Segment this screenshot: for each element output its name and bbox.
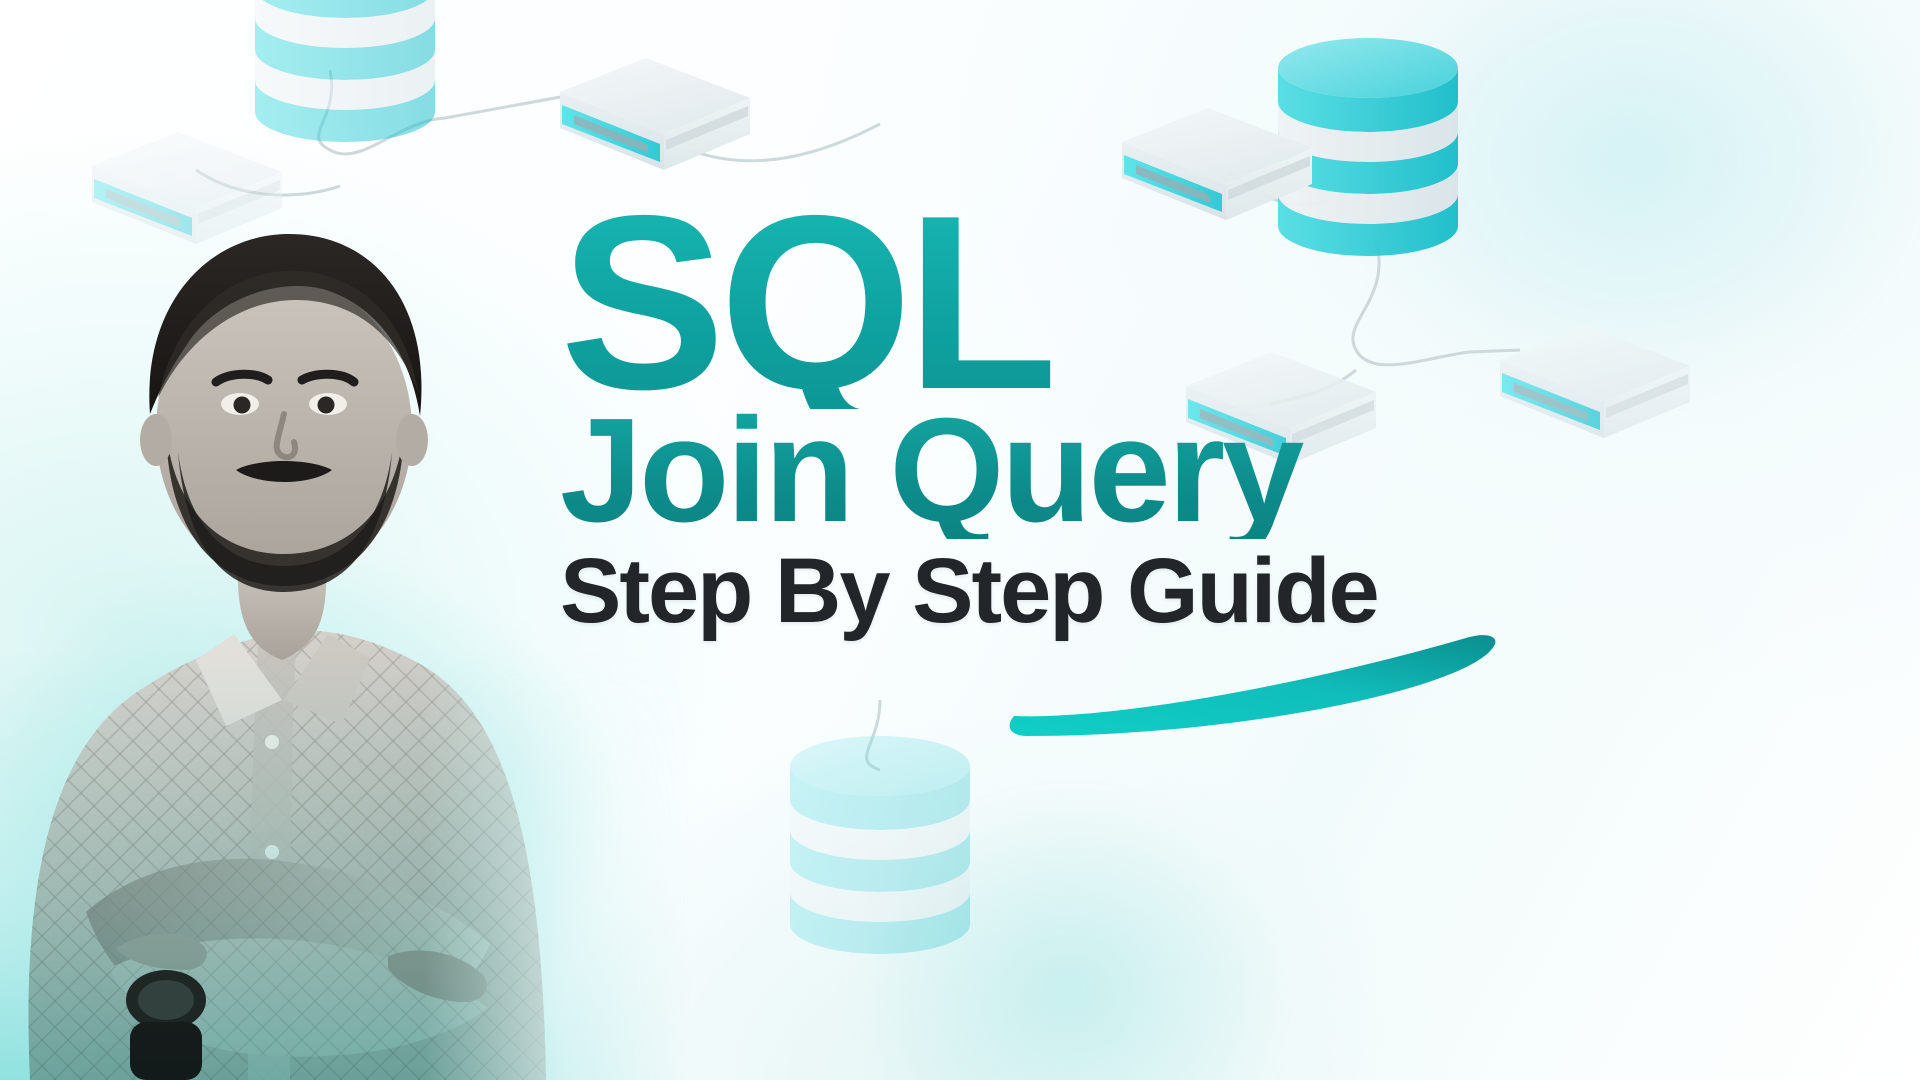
banner-canvas: SQL Join Query Step By Step Guide — [0, 0, 1920, 1080]
underline-swoosh — [1000, 632, 1520, 742]
page-title-secondary: Join Query — [560, 403, 1620, 539]
page-title-primary: SQL — [560, 196, 1620, 409]
headline-block: SQL Join Query Step By Step Guide — [560, 196, 1620, 637]
portrait-teal-tint — [0, 650, 690, 1080]
page-subtitle: Step By Step Guide — [560, 545, 1620, 637]
